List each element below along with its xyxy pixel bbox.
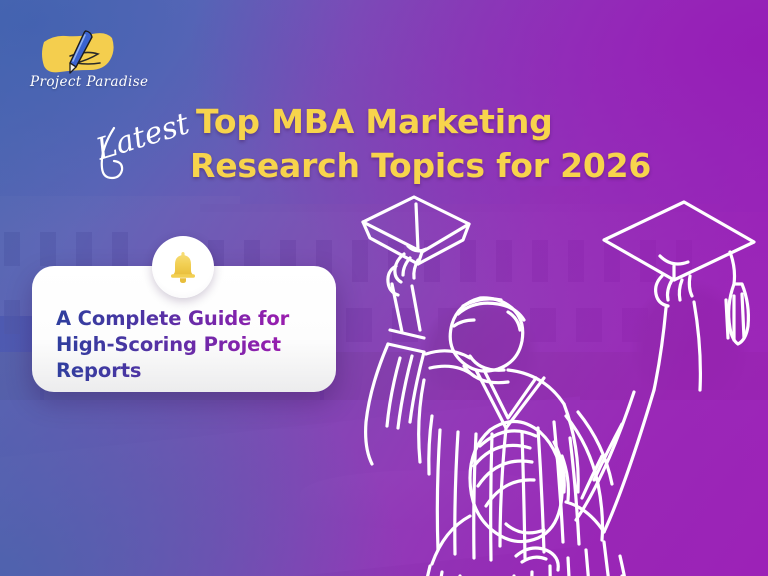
bell-icon — [152, 236, 214, 298]
kicker-latest: Latest — [92, 104, 197, 184]
graduate-right-figure — [394, 202, 754, 576]
subtitle-text: A Complete Guide for High-Scoring Projec… — [56, 306, 312, 384]
headline-line-2: Research Topics for 2026 — [190, 144, 756, 188]
brand-name: Project Paradise — [30, 74, 160, 90]
brand-logo[interactable]: Project Paradise — [30, 26, 160, 98]
promo-banner: Project Paradise Latest Top MBA Marketin… — [0, 0, 768, 576]
graduates-illustration — [330, 180, 768, 576]
pen-on-brushstroke-icon — [38, 26, 114, 76]
graduate-left-figure — [363, 197, 612, 570]
headline-line-1: Top MBA Marketing — [196, 102, 553, 141]
kicker-text: Latest — [92, 106, 194, 168]
page-title: Top MBA Marketing Research Topics for 20… — [196, 100, 756, 188]
